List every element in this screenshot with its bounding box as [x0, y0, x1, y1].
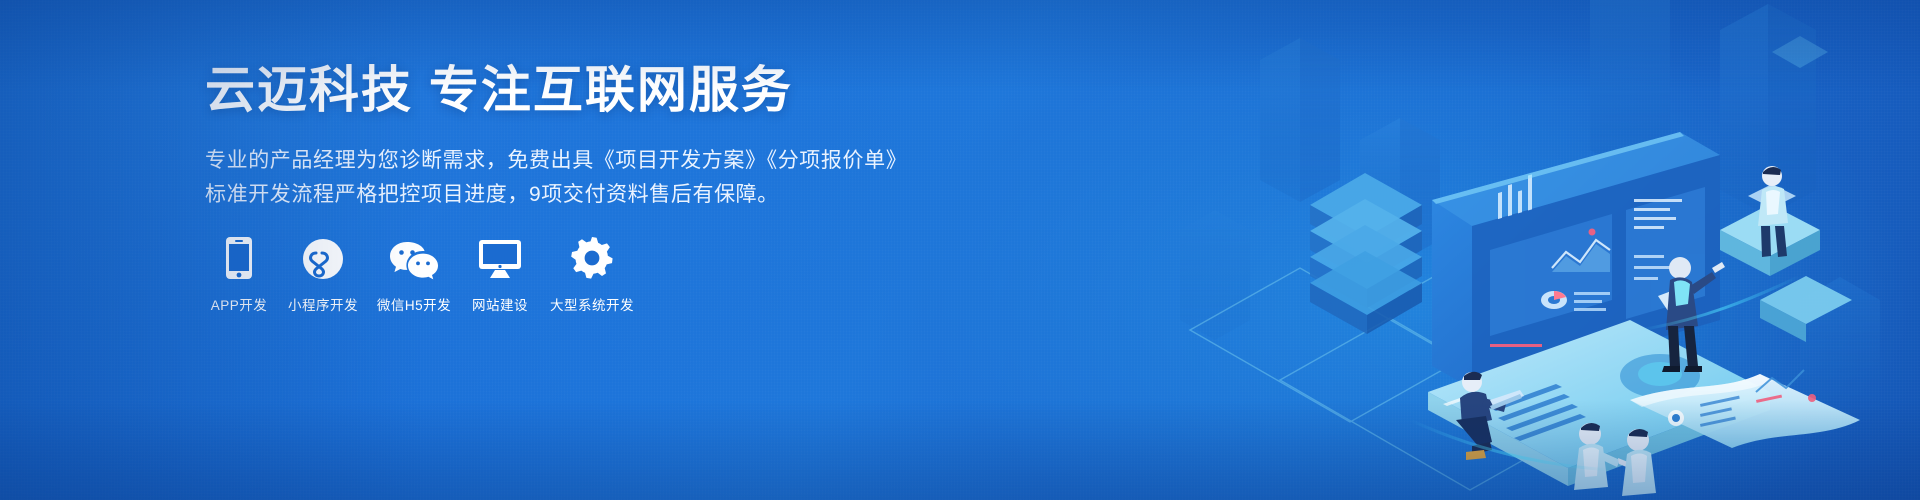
monitor-icon — [477, 228, 523, 280]
service-item-large-system[interactable]: 大型系统开发 — [540, 228, 644, 314]
service-list: APP开发 小程序开发 微信 — [200, 228, 644, 314]
service-item-wechat-h5[interactable]: 微信H5开发 — [368, 228, 460, 314]
banner-copy: 云迈科技 专注互联网服务 专业的产品经理为您诊断需求，免费出具《项目开发方案》《… — [205, 62, 925, 212]
service-label: 网站建设 — [472, 294, 528, 314]
service-label: APP开发 — [211, 294, 268, 314]
service-item-app[interactable]: APP开发 — [200, 228, 278, 314]
subtitle-line-2: 标准开发流程严格把控项目进度，9项交付资料售后有保障。 — [205, 178, 925, 212]
hero-banner: 云迈科技 专注互联网服务 专业的产品经理为您诊断需求，免费出具《项目开发方案》《… — [0, 0, 1920, 500]
server-stack — [1310, 173, 1422, 334]
mini-program-icon — [302, 228, 344, 280]
service-label: 大型系统开发 — [550, 294, 634, 314]
service-label: 小程序开发 — [288, 294, 358, 314]
subtitle-block: 专业的产品经理为您诊断需求，免费出具《项目开发方案》《分项报价单》 标准开发流程… — [205, 144, 925, 212]
illustration — [1160, 0, 1920, 500]
service-item-website[interactable]: 网站建设 — [460, 228, 540, 314]
wechat-icon — [389, 228, 439, 280]
subtitle-line-1: 专业的产品经理为您诊断需求，免费出具《项目开发方案》《分项报价单》 — [205, 144, 925, 178]
service-label: 微信H5开发 — [377, 294, 451, 314]
service-item-miniprogram[interactable]: 小程序开发 — [278, 228, 368, 314]
gear-icon — [570, 228, 614, 280]
page-title: 云迈科技 专注互联网服务 — [205, 62, 925, 118]
mobile-phone-icon — [225, 228, 253, 280]
